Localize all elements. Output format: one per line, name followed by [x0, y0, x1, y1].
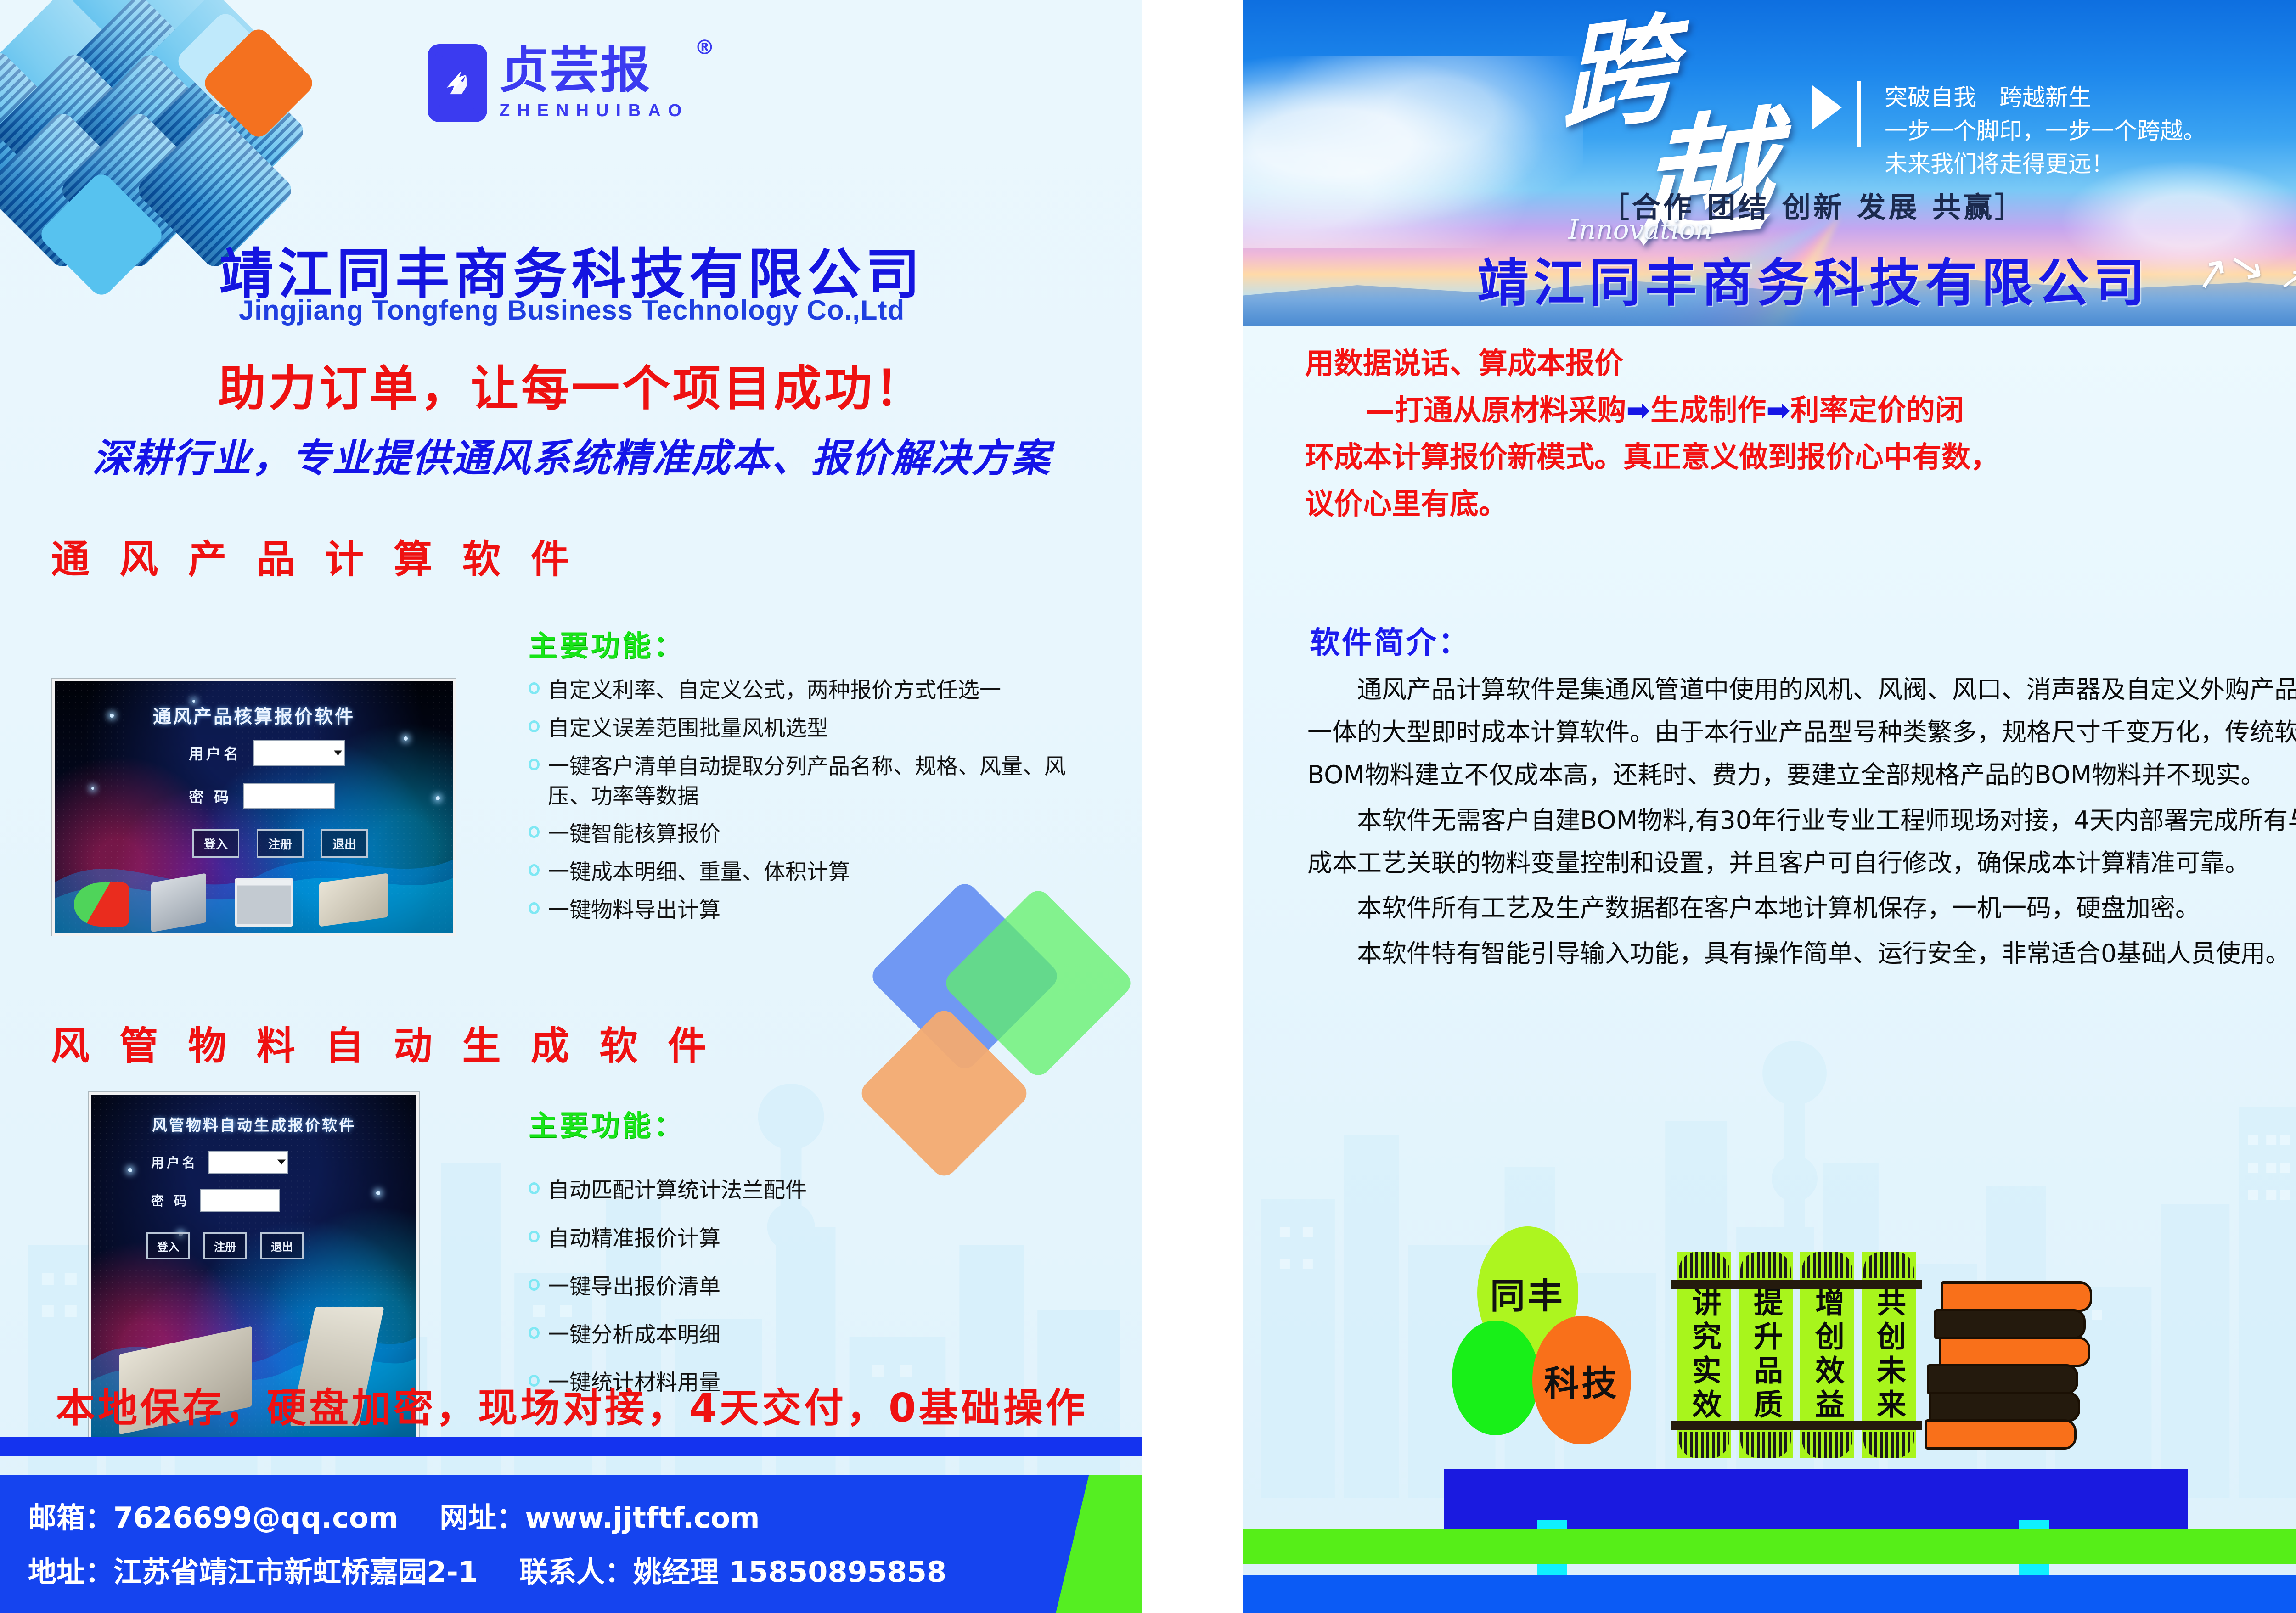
- intro-body: 通风产品计算软件是集通风管道中使用的风机、风阀、风口、消声器及自定义外购产品于一…: [1307, 669, 2296, 978]
- bullet-icon: [529, 864, 540, 876]
- left-page: 贞芸报 ® ZHENHUIBAO 靖江同丰商务科技有限公司 Jingjiang …: [0, 0, 1142, 1613]
- list-item: 一键客户清单自动提取分列产品名称、规格、风量、风压、功率等数据: [529, 752, 1084, 812]
- platform-bar: [1444, 1469, 2188, 1529]
- scroll-banner: 共创未来: [1862, 1252, 1916, 1458]
- hero-motto: ［合作 团结 创新 发展 共赢］: [1243, 184, 2296, 225]
- contact-green-flag: [1056, 1475, 1142, 1613]
- logo-wordmark: 贞芸报 ®: [499, 46, 689, 96]
- arrow-right-icon-2: ➡: [1766, 393, 1790, 427]
- screenshot2-password-input[interactable]: [200, 1189, 280, 1212]
- scroll-text: 提升品质: [1745, 1287, 1787, 1423]
- address-value: 江苏省靖江市新虹桥嘉园2-1: [113, 1555, 478, 1589]
- screenshot2-title: 风管物料自动生成报价软件: [91, 1113, 416, 1135]
- email-value[interactable]: 7626699@qq.com: [113, 1501, 398, 1534]
- play-triangle-icon: [1812, 85, 1842, 129]
- address-label: 地址：: [28, 1555, 113, 1589]
- scroll-rod-bottom: [1794, 1421, 1861, 1430]
- oval-keji: 科技: [1532, 1316, 1631, 1444]
- product-fan-image: [74, 882, 129, 927]
- scroll-text: 共创未来: [1868, 1287, 1910, 1423]
- vertical-rule-divider: [1857, 81, 1861, 147]
- headline-line-3: 环成本计算报价新模式。真正意义做到报价心中有数，: [1305, 434, 2296, 481]
- left-slogan-red: 助力订单，让每一个项目成功！: [0, 349, 1142, 419]
- screenshot1-password-input[interactable]: [243, 783, 335, 809]
- screenshot1-username-label: 用户名: [189, 742, 241, 764]
- bullet-icon: [529, 1279, 540, 1291]
- list-item: 自动精准报价计算: [529, 1224, 1057, 1254]
- product-grille-image: [235, 878, 293, 927]
- screenshot2-username-input[interactable]: [208, 1151, 288, 1174]
- headline-line-4: 议价心里有底。: [1305, 481, 2296, 528]
- screenshot1-title: 通风产品核算报价软件: [55, 702, 453, 728]
- screenshot2-login-button[interactable]: 登入: [146, 1232, 190, 1259]
- section2-features-head: 主要功能：: [529, 1102, 1057, 1144]
- headline-line-2c: 利率定价的闭: [1790, 393, 1964, 427]
- logo-mark-icon: [428, 44, 487, 122]
- scroll-cap-bottom: [1740, 1432, 1791, 1458]
- scroll-cap-bottom: [1863, 1432, 1914, 1458]
- product-damper-image: [151, 873, 206, 932]
- intro-paragraph: 通风产品计算软件是集通风管道中使用的风机、风阀、风口、消声器及自定义外购产品于一…: [1307, 669, 2296, 797]
- logo-pinyin: ZHENHUIBAO: [499, 101, 689, 121]
- left-contact-block: 邮箱：7626699@qq.com 网址：www.jjtftf.com 地址：江…: [0, 1475, 1142, 1613]
- list-item: 一键成本明细、重量、体积计算: [529, 858, 1084, 888]
- screenshot2-register-button[interactable]: 注册: [203, 1232, 247, 1259]
- scroll-cap-top: [1679, 1252, 1729, 1278]
- right-blue-bar: [1243, 1575, 2296, 1613]
- section2-features: 主要功能： 自动匹配计算统计法兰配件 自动精准报价计算 一键导出报价清单 一键分…: [529, 1102, 1057, 1398]
- scroll-banner: 讲究实效: [1677, 1252, 1731, 1458]
- hero-tagline-block: 突破自我 跨越新生 一步一个脚印，一步一个跨越。 未来我们将走得更远！: [1812, 81, 2206, 181]
- website-label: 网址：: [439, 1501, 525, 1534]
- intro-paragraph: 本软件无需客户自建BOM物料,有30年行业专业工程师现场对接，4天内部署完成所有…: [1307, 799, 2296, 885]
- scroll-banners: 讲究实效 提升品质 增创效益: [1677, 1252, 1916, 1458]
- bullet-icon: [529, 1327, 540, 1339]
- bullet-icon: [529, 682, 540, 694]
- bullet-icon: [529, 1231, 540, 1242]
- list-item: 一键导出报价清单: [529, 1272, 1057, 1302]
- brochure-spread: 贞芸报 ® ZHENHUIBAO 靖江同丰商务科技有限公司 Jingjiang …: [0, 0, 2296, 1613]
- scroll-rod-top: [1671, 1280, 1738, 1289]
- scroll-cap-top: [1740, 1252, 1791, 1278]
- right-green-bar: [1243, 1529, 2296, 1564]
- arrow-right-icon-1: ➡: [1626, 393, 1650, 427]
- scroll-rod-bottom: [1732, 1421, 1799, 1430]
- left-divider-bar: [0, 1437, 1142, 1456]
- list-item: 自定义误差范围批量风机选型: [529, 714, 1084, 744]
- list-item: 自定义利率、自定义公式，两种报价方式任选一: [529, 676, 1084, 706]
- left-company-name-en: Jingjiang Tongfeng Business Technology C…: [0, 294, 1142, 326]
- list-item: 自动匹配计算统计法兰配件: [529, 1176, 1057, 1206]
- bullet-icon: [529, 759, 540, 770]
- website-value[interactable]: www.jjtftf.com: [525, 1501, 760, 1534]
- oval-green-blank: [1452, 1321, 1539, 1435]
- list-item: 一键智能核算报价: [529, 820, 1084, 849]
- screenshot2-password-label: 密 码: [151, 1191, 190, 1209]
- email-label: 邮箱：: [28, 1501, 113, 1534]
- bullet-icon: [529, 1182, 540, 1194]
- screenshot1-username-input[interactable]: [253, 740, 345, 766]
- book-stack: [1930, 1281, 2095, 1465]
- headline-line-1: 用数据说话、算成本报价: [1305, 340, 2296, 387]
- bullet-icon: [529, 826, 540, 838]
- headline-line-2b: 生成制作: [1650, 393, 1766, 427]
- scroll-banner: 增创效益: [1800, 1252, 1854, 1458]
- logo-arrows-icon: [439, 56, 475, 110]
- chevron-down-icon: [277, 1160, 286, 1165]
- scroll-rod-bottom: [1855, 1421, 1922, 1430]
- hero-tag-line-1: 突破自我 跨越新生: [1885, 81, 2206, 114]
- list-item: 一键分析成本明细: [529, 1321, 1057, 1350]
- scroll-text: 讲究实效: [1683, 1287, 1725, 1423]
- screenshot2-exit-button[interactable]: 退出: [260, 1232, 304, 1259]
- intro-paragraph: 本软件所有工艺及生产数据都在客户本地计算机保存，一机一码，硬盘加密。: [1307, 887, 2296, 930]
- software-screenshot-1: 通风产品核算报价软件 用户名 密 码 登入 注册 退出: [52, 679, 456, 936]
- section1-title: 通 风 产 品 计 算 软 件: [51, 528, 578, 584]
- scroll-rod-top: [1732, 1280, 1799, 1289]
- scroll-text: 增创效益: [1806, 1287, 1848, 1423]
- scroll-cap-top: [1863, 1252, 1914, 1278]
- section2-title: 风 管 物 料 自 动 生 成 软 件: [51, 1015, 715, 1071]
- section1-features-head: 主要功能：: [529, 623, 1084, 664]
- scroll-cap-bottom: [1679, 1432, 1729, 1458]
- right-company-name: 靖江同丰商务科技有限公司: [1243, 242, 2296, 316]
- section1-features: 主要功能： 自定义利率、自定义公式，两种报价方式任选一 自定义误差范围批量风机选…: [529, 623, 1084, 926]
- scroll-rod-top: [1794, 1280, 1861, 1289]
- intro-heading: 软件简介：: [1310, 618, 1470, 662]
- scroll-banner: 提升品质: [1739, 1252, 1793, 1458]
- bullet-icon: [529, 902, 540, 914]
- logo-wordmark-text: 贞芸报: [499, 42, 651, 99]
- left-slogan-blue: 深耕行业，专业提供通风系统精准成本、报价解决方案: [0, 427, 1142, 483]
- right-hero-banner: 跨 越 Innovation 突破自我 跨越新生 一步一个脚印，一步一个跨越。 …: [1243, 0, 2296, 326]
- intro-paragraph: 本软件特有智能引导输入功能，具有操作简单、运行安全，非常适合0基础人员使用。: [1307, 933, 2296, 975]
- registered-icon: ®: [694, 38, 715, 58]
- scroll-cap-bottom: [1802, 1432, 1852, 1458]
- left-bottom-banner: 本地保存，硬盘加密，现场对接，4天交付，0基础操作: [0, 1376, 1142, 1433]
- brand-logo: 贞芸报 ® ZHENHUIBAO: [428, 44, 689, 122]
- scroll-cap-top: [1802, 1252, 1852, 1278]
- chevron-down-icon: [334, 751, 342, 756]
- headline-line-2a: —打通从原材料采购: [1366, 393, 1626, 427]
- right-page: 跨 越 Innovation 突破自我 跨越新生 一步一个脚印，一步一个跨越。 …: [1243, 0, 2296, 1613]
- hero-tag-line-3: 未来我们将走得更远！: [1885, 147, 2206, 181]
- scroll-rod-bottom: [1671, 1421, 1738, 1430]
- screenshot1-password-label: 密 码: [189, 786, 231, 807]
- contact-person-value[interactable]: 姚经理 15850895858: [633, 1555, 946, 1589]
- bullet-icon: [529, 720, 540, 732]
- contact-person-label: 联系人：: [519, 1555, 633, 1589]
- kuayue-calligraphy: 跨 越 Innovation: [1555, 17, 1794, 274]
- right-headline: 用数据说话、算成本报价 —打通从原材料采购➡生成制作➡利率定价的闭 环成本计算报…: [1305, 340, 2296, 528]
- hero-tag-line-2: 一步一个脚印，一步一个跨越。: [1885, 114, 2206, 148]
- screenshot2-username-label: 用户名: [151, 1153, 198, 1171]
- scroll-rod-top: [1855, 1280, 1922, 1289]
